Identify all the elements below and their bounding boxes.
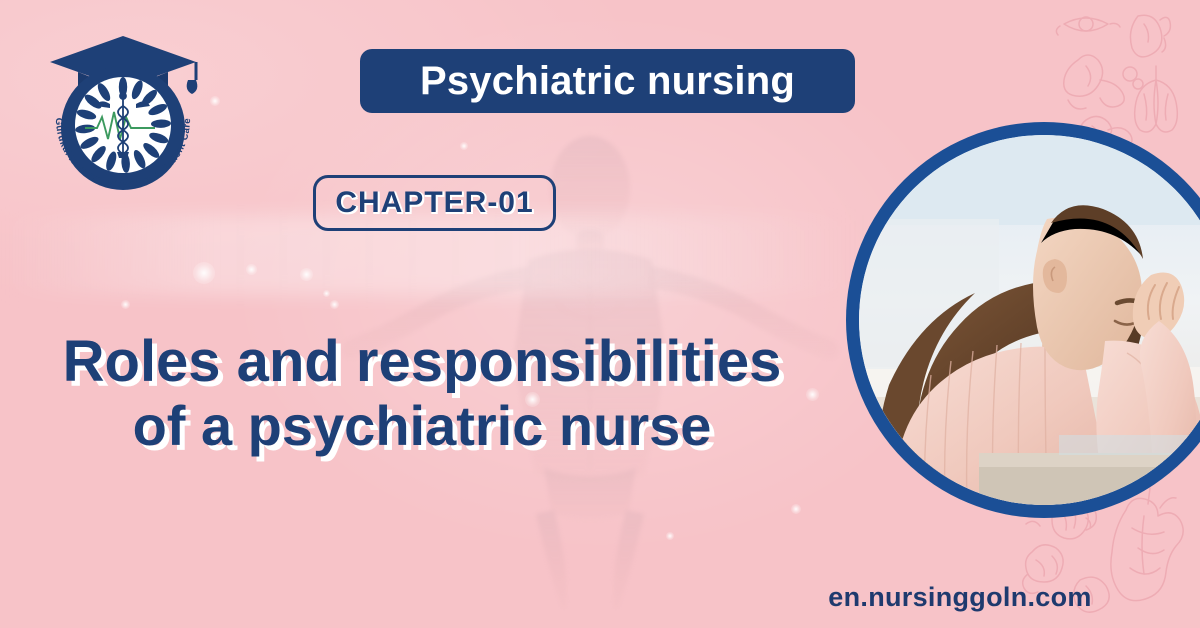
bokeh-dot (666, 532, 674, 540)
title-badge: Psychiatric nursing (360, 49, 855, 113)
headline-line-1: Roles and responsibilities (22, 330, 822, 394)
headline-line-2: of a psychiatric nurse (22, 394, 822, 458)
poster-canvas: Gurukul Nursing, Midwifery & Patient Car… (0, 0, 1200, 628)
bokeh-dot (323, 290, 330, 297)
bokeh-dot (210, 96, 220, 106)
bokeh-dot (300, 268, 313, 281)
bokeh-dot (330, 300, 339, 309)
site-url[interactable]: en.nursinggoln.com (760, 584, 1160, 611)
chapter-text: CHAPTER-01 (335, 188, 533, 218)
bokeh-dot (246, 264, 257, 275)
bokeh-dot (460, 142, 468, 150)
title-text: Psychiatric nursing (420, 61, 795, 101)
bokeh-dot (791, 504, 801, 514)
gurukul-nursing-logo[interactable]: Gurukul Nursing, Midwifery & Patient Car… (38, 28, 208, 198)
page-title: Roles and responsibilities of a psychiat… (22, 330, 822, 458)
bokeh-dot (193, 262, 215, 284)
chapter-badge: CHAPTER-01 (313, 175, 556, 231)
photo-stressed-woman (859, 135, 1200, 505)
bokeh-dot (121, 300, 130, 309)
